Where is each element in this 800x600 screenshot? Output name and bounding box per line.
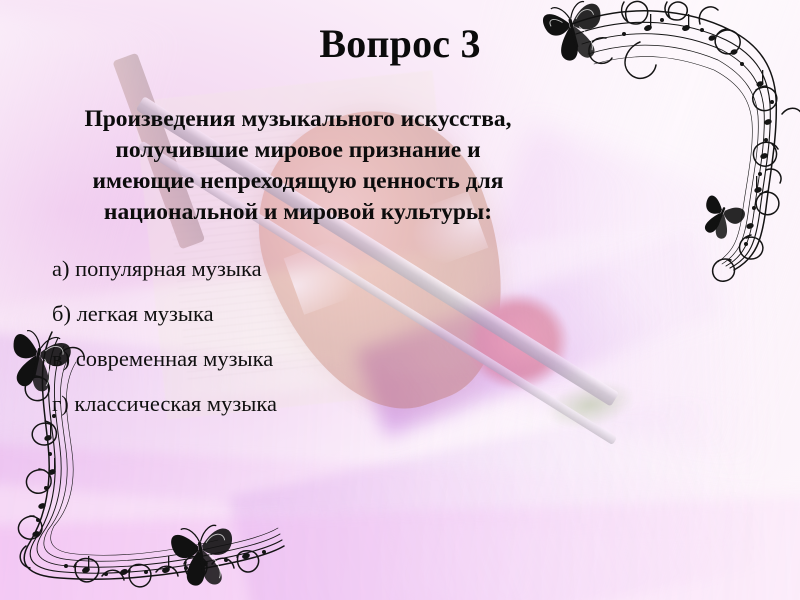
answer-option-b[interactable]: б) легкая музыка: [52, 291, 572, 336]
question-text: Произведения музыкального искусства, пол…: [28, 104, 568, 228]
question-line: национальной и мировой культуры:: [28, 197, 568, 228]
presentation-slide: Вопрос 3 Произведения музыкального искус…: [0, 0, 800, 600]
question-line: имеющие непреходящую ценность для: [28, 166, 568, 197]
question-line: получившие мировое признание и: [28, 135, 568, 166]
slide-title: Вопрос 3: [0, 22, 800, 66]
answer-option-a[interactable]: а) популярная музыка: [52, 246, 572, 291]
question-line: Произведения музыкального искусства,: [28, 104, 568, 135]
answer-option-v[interactable]: в) современная музыка: [52, 336, 572, 381]
answer-options-list: а) популярная музыка б) легкая музыка в)…: [52, 246, 572, 426]
answer-option-g[interactable]: г) классическая музыка: [52, 381, 572, 426]
